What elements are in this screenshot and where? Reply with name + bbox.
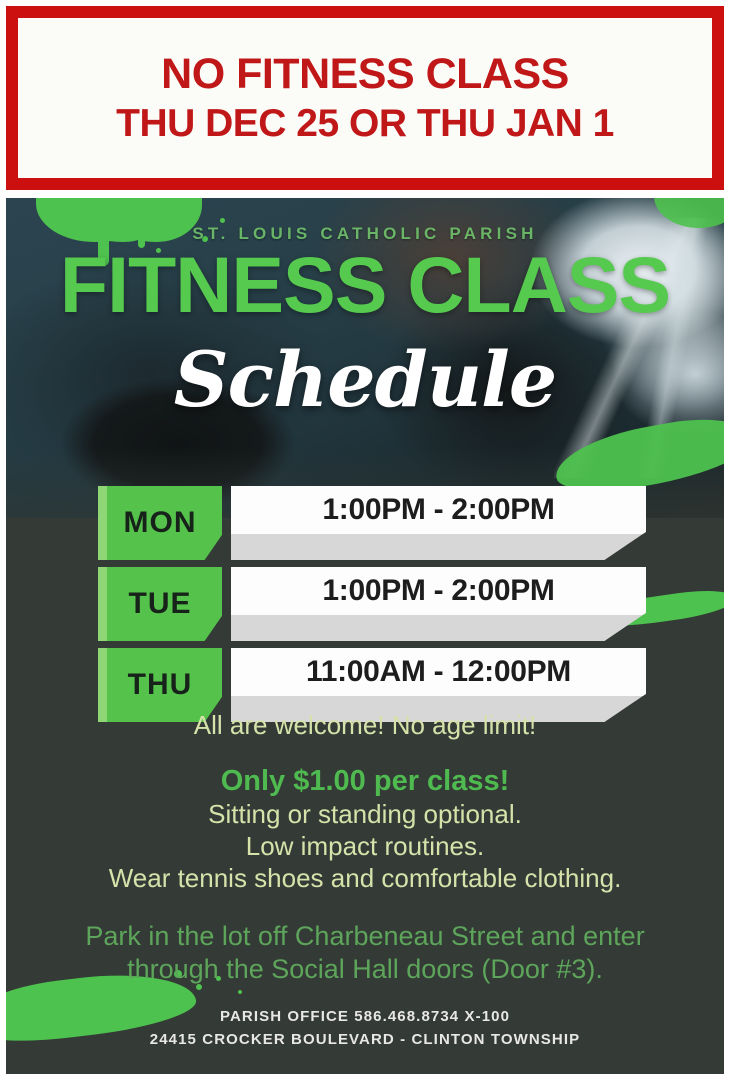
schedule-day-tab: TUE [98,567,222,641]
schedule-time-bar: 1:00PM - 2:00PM [231,567,646,641]
copy-body-line-1: Sitting or standing optional. [6,799,724,831]
paint-dot-icon [220,218,225,223]
schedule-time-label: 11:00AM - 12:00PM [306,655,571,689]
contact-info: PARISH OFFICE 586.468.8734 X-100 24415 C… [6,1006,724,1051]
flyer-body: ST. LOUIS CATHOLIC PARISH FITNESS CLASS … [6,198,724,1074]
copy-welcome: All are welcome! No age limit! [6,710,724,742]
copy-body-line-2: Low impact routines. [6,831,724,863]
table-row: MON 1:00PM - 2:00PM [98,486,646,560]
contact-address: 24415 CROCKER BOULEVARD - CLINTON TOWNSH… [6,1029,724,1052]
contact-phone: PARISH OFFICE 586.468.8734 X-100 [6,1006,724,1029]
alert-banner: NO FITNESS CLASS THU DEC 25 OR THU JAN 1 [6,6,724,190]
flyer-page: NO FITNESS CLASS THU DEC 25 OR THU JAN 1… [0,0,730,1080]
alert-line-1: NO FITNESS CLASS [161,53,569,97]
parking-line-1: Park in the lot off Charbeneau Street an… [6,920,724,953]
copy-body-line-3: Wear tennis shoes and comfortable clothi… [6,863,724,895]
schedule-time-bar: 1:00PM - 2:00PM [231,486,646,560]
schedule-day-label: TUE [129,587,192,621]
schedule-day-tab: MON [98,486,222,560]
table-row: TUE 1:00PM - 2:00PM [98,567,646,641]
parking-info: Park in the lot off Charbeneau Street an… [6,920,724,986]
script-subtitle: Schedule [6,342,724,418]
flyer-copy: All are welcome! No age limit! Only $1.0… [6,710,724,1051]
schedule-time-face: 1:00PM - 2:00PM [231,567,646,615]
schedule-day-label: MON [124,506,197,540]
schedule-time-label: 1:00PM - 2:00PM [322,493,554,527]
alert-line-2: THU DEC 25 OR THU JAN 1 [116,104,614,144]
schedule-time-face: 11:00AM - 12:00PM [231,648,646,696]
schedule-time-face: 1:00PM - 2:00PM [231,486,646,534]
schedule-day-label: THU [128,668,193,702]
copy-price: Only $1.00 per class! [6,764,724,799]
page-title: FITNESS CLASS [6,244,724,326]
alert-banner-inner: NO FITNESS CLASS THU DEC 25 OR THU JAN 1 [18,18,712,178]
parking-line-2: through the Social Hall doors (Door #3). [6,953,724,986]
schedule-table: MON 1:00PM - 2:00PM TUE 1:00PM - 2:00PM [98,486,646,729]
schedule-time-label: 1:00PM - 2:00PM [322,574,554,608]
